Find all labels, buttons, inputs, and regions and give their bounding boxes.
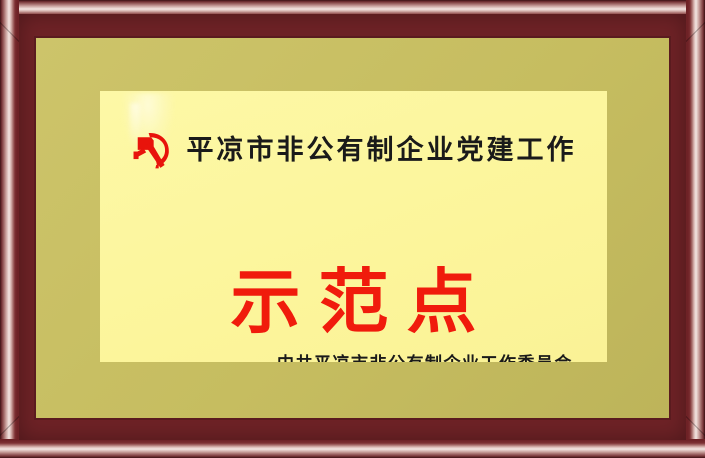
certificate-headline: 示范点 — [100, 266, 607, 340]
certificate-issuer: 中共平凉市非公有制企业工作委员会 — [277, 349, 573, 362]
plaque-gold-mat: 平凉市非公有制企业党建工作 示范点 中共平凉市非公有制企业工作委员会 二0一二年… — [36, 38, 669, 418]
cpc-hammer-sickle-icon — [131, 128, 173, 170]
certificate-title: 平凉市非公有制企业党建工作 — [187, 137, 577, 164]
certificate-title-row: 平凉市非公有制企业党建工作 — [100, 131, 607, 170]
certificate-panel: 平凉市非公有制企业党建工作 示范点 中共平凉市非公有制企业工作委员会 二0一二年… — [100, 91, 607, 362]
award-plaque: 平凉市非公有制企业党建工作 示范点 中共平凉市非公有制企业工作委员会 二0一二年… — [0, 0, 705, 458]
